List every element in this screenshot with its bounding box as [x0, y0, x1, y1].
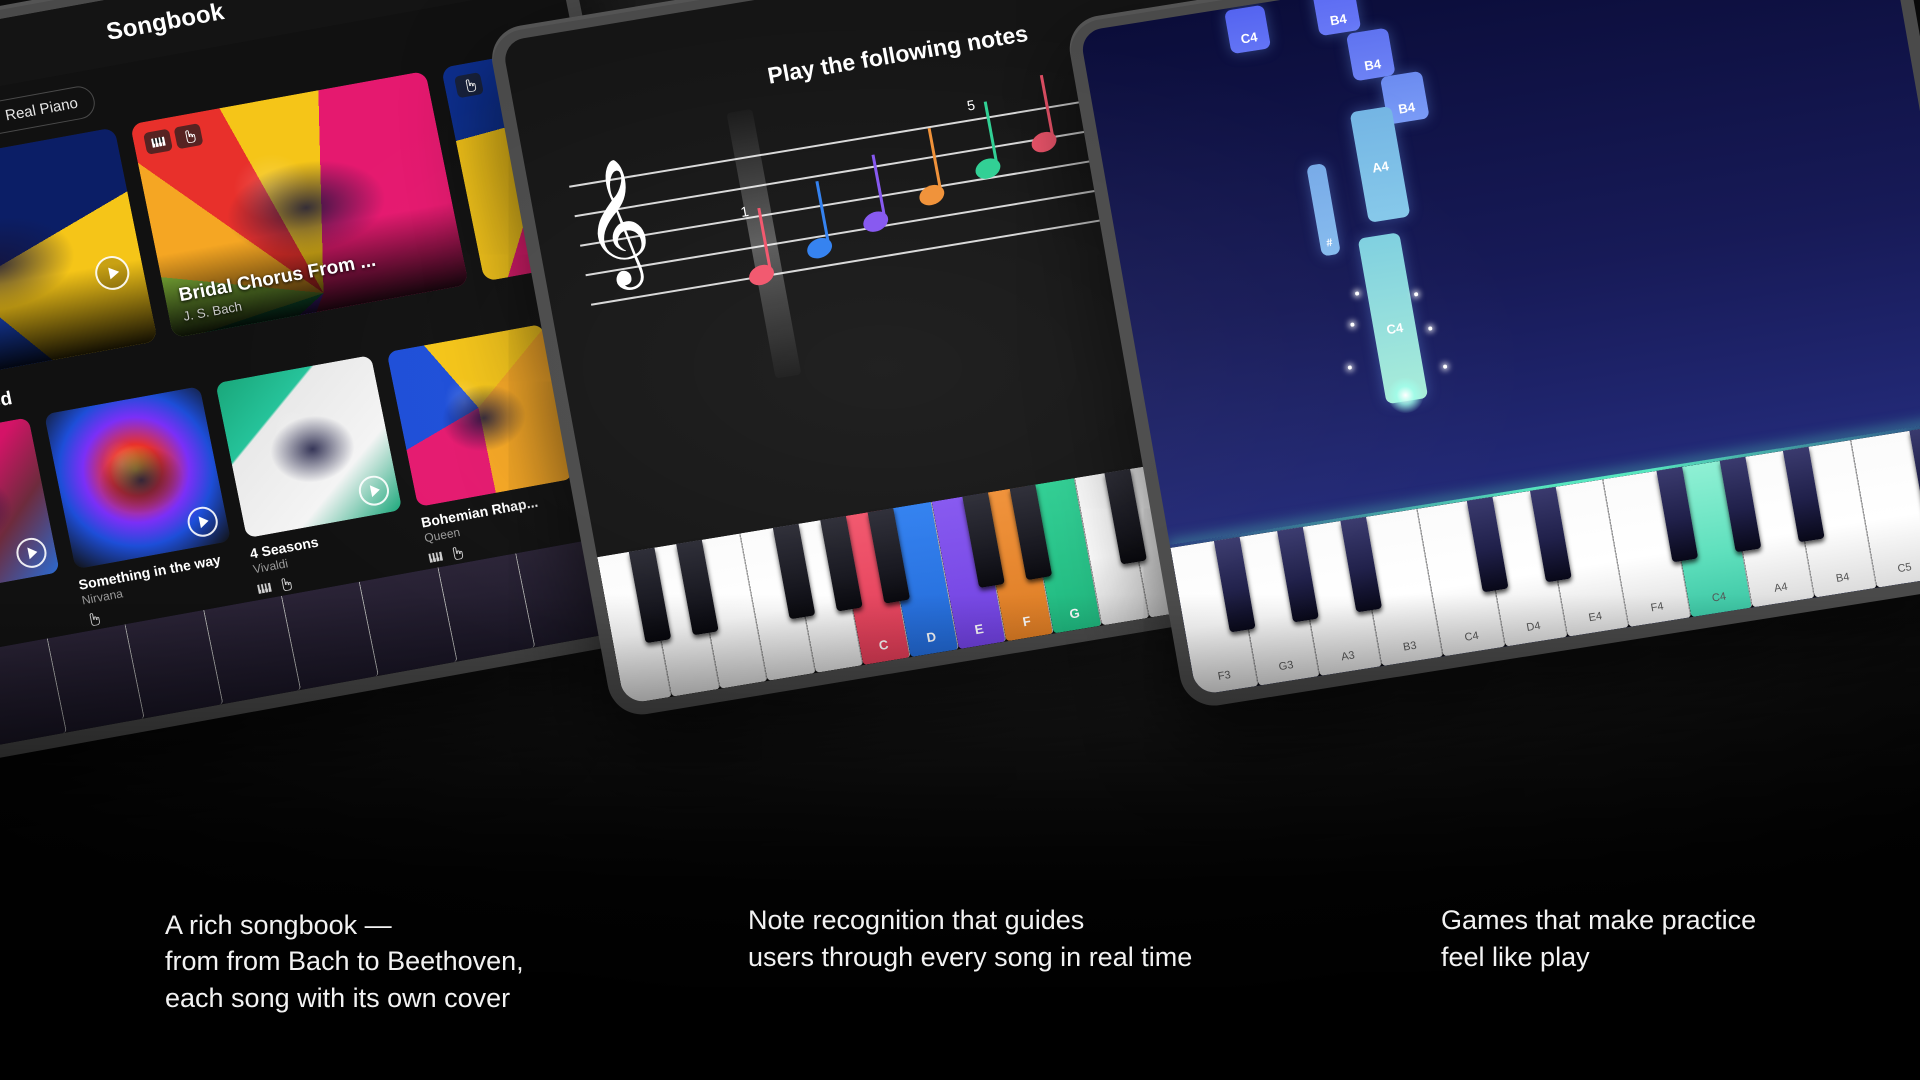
falling-note-sharp: #: [1306, 163, 1341, 257]
finger-number: 5: [966, 97, 977, 114]
falling-note: A4: [1350, 106, 1411, 223]
piano-key-black[interactable]: [962, 492, 1005, 588]
key-label: A3: [1317, 646, 1380, 667]
piano-key-black[interactable]: [629, 548, 672, 644]
key-label: C5: [1873, 557, 1920, 578]
staff-note: [805, 237, 834, 260]
falling-note: C4: [1224, 5, 1271, 55]
piano-keys-icon: [143, 129, 173, 155]
piano-keys-icon: [256, 581, 273, 596]
hand-tap-icon: [448, 546, 465, 561]
tab-real-piano-label: Real Piano: [4, 95, 80, 125]
piano-key-black[interactable]: [1104, 469, 1147, 565]
caption-game: Games that make practice feel like play: [1441, 902, 1756, 975]
game-screen: C4 B4 B4 B4 # A4 C4 F3 G3: [1079, 0, 1920, 696]
key-label: C: [859, 634, 908, 656]
piano-key-black[interactable]: [1656, 467, 1698, 563]
piano-key-black[interactable]: [1214, 537, 1256, 633]
note-label: C4: [1385, 320, 1404, 337]
falling-note: B4: [1312, 0, 1362, 36]
page-title: Songbook: [104, 0, 227, 47]
caption-note-recognition: Note recognition that guides users throu…: [748, 902, 1192, 975]
piano-key-black[interactable]: [1277, 527, 1319, 623]
key-label: E: [954, 618, 1003, 640]
piano-key-black[interactable]: [868, 508, 911, 604]
staff-note: [861, 210, 890, 233]
piano-key-black[interactable]: [1340, 517, 1382, 613]
note-label: A4: [1371, 158, 1390, 175]
key-label: D: [907, 626, 956, 648]
hand-tap-icon: [85, 612, 102, 627]
promo-collage: Songbook Touch Piano Real Piano: [0, 0, 1920, 1080]
treble-clef-icon: 𝄞: [573, 162, 657, 281]
key-label: A4: [1749, 577, 1812, 598]
hand-tap-icon: [454, 72, 484, 98]
caption-songbook: A rich songbook — from from Bach to Beet…: [165, 907, 524, 1016]
staff-note: [1030, 131, 1059, 154]
key-label: C4: [1440, 626, 1503, 647]
note-label: #: [1325, 237, 1333, 250]
falling-note-active: C4: [1358, 232, 1429, 404]
hand-tap-icon: [277, 577, 294, 592]
piano-key-black[interactable]: [1010, 485, 1053, 581]
piano-keys-icon: [427, 549, 444, 564]
list-item[interactable]: Something in the way Nirvana: [44, 386, 243, 627]
note-label: B4: [1329, 11, 1348, 28]
key-label: F3: [1193, 665, 1256, 686]
note-label: B4: [1363, 56, 1382, 73]
hand-tap-icon: [174, 123, 204, 149]
key-label: F: [1002, 610, 1051, 632]
key-label: G: [1050, 602, 1099, 624]
piano-key-black[interactable]: [1783, 447, 1825, 543]
key-label: E4: [1564, 606, 1627, 627]
piano-key-black[interactable]: [1909, 427, 1920, 523]
staff-note: [917, 184, 946, 207]
piano-key-black[interactable]: [820, 516, 863, 612]
card-badges: [454, 72, 484, 98]
key-label: B3: [1378, 636, 1441, 657]
key-label: B4: [1811, 567, 1874, 588]
key-label: D4: [1502, 616, 1565, 637]
list-item[interactable]: 4 Seasons Vivaldi: [215, 355, 414, 596]
key-label: G3: [1255, 655, 1318, 676]
piano-key-black[interactable]: [1467, 497, 1509, 593]
key-label: F4: [1626, 597, 1689, 618]
album-art: [44, 386, 231, 569]
piano-key-black[interactable]: [676, 540, 719, 636]
tablet-game: C4 B4 B4 B4 # A4 C4 F3 G3: [1064, 0, 1920, 710]
note-label: B4: [1397, 99, 1416, 116]
piano-key-black[interactable]: [1720, 457, 1762, 553]
piano-key-black[interactable]: [773, 524, 816, 620]
falling-note: B4: [1346, 28, 1396, 82]
note-label: C4: [1240, 29, 1259, 46]
key-label: C4: [1688, 587, 1751, 608]
album-art: [215, 355, 402, 538]
piano-key-black[interactable]: [1530, 487, 1572, 583]
